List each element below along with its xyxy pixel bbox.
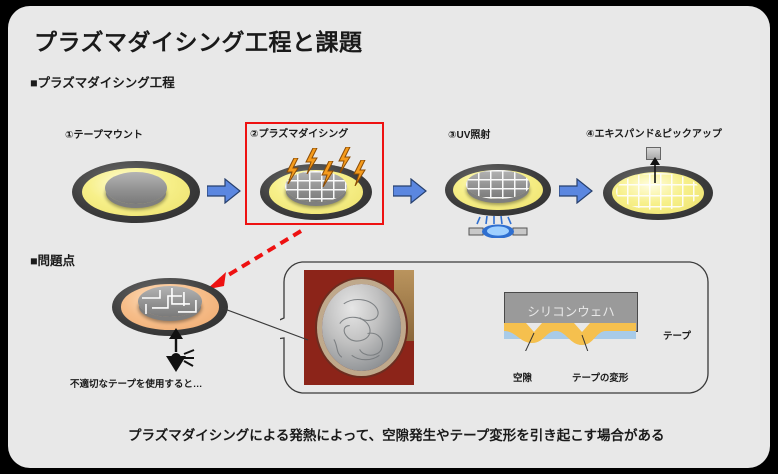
callout-leader-line: [222, 306, 312, 346]
section-heading-process: ■プラズマダイシング工程: [30, 72, 175, 91]
step-4-label: ④エキスパンド&ピックアップ: [586, 125, 722, 140]
step-1-wafer: [72, 161, 200, 223]
plasma-bolt-icon: [338, 147, 351, 173]
damaged-wafer-disc: [138, 286, 203, 317]
page-title: プラズマダイシング工程と課題: [34, 23, 363, 57]
uv-lamp-icon: [467, 216, 529, 238]
step-3-label: ③UV照射: [448, 126, 490, 141]
void-label: 空隙: [513, 370, 532, 384]
step-2-label: ②プラズマダイシング: [250, 125, 348, 140]
plasma-bolt-icon: [353, 160, 366, 186]
plasma-bolt-icon: [305, 148, 318, 174]
dicing-street-grid: [466, 170, 530, 199]
silicon-wafer-disc: [105, 172, 166, 204]
arrow-2-icon: [393, 178, 427, 204]
defect-photo: [304, 270, 414, 385]
step-1-label: ①テープマウント: [65, 126, 143, 141]
step-3-wafer: [445, 164, 551, 216]
conclusion-text: プラズマダイシングによる発熱によって、空隙発生やテープ変形を引き起こす場合がある: [128, 424, 665, 444]
slide-panel: プラズマダイシング工程と課題 ■プラズマダイシング工程 ①テープマウント ②プラ…: [8, 6, 770, 468]
inspection-arrow-icon: [156, 328, 196, 372]
crack-pattern: [138, 286, 203, 317]
photo-wafer-surface: [322, 284, 401, 371]
plasma-bolt-icon: [286, 158, 299, 184]
plasma-bolt-icon: [321, 161, 334, 187]
arrow-1-icon: [207, 178, 241, 204]
tape-label: テープ: [663, 328, 691, 342]
diced-wafer-disc: [466, 170, 530, 199]
pickup-arrow-icon: [649, 157, 661, 183]
section-heading-problem: ■問題点: [30, 250, 75, 269]
inappropriate-tape-caption: 不適切なテープを使用すると…: [70, 376, 202, 390]
tape-deformation-label: テープの変形: [572, 370, 628, 384]
arrow-3-icon: [559, 178, 593, 204]
tape-cross-section: [504, 291, 664, 351]
